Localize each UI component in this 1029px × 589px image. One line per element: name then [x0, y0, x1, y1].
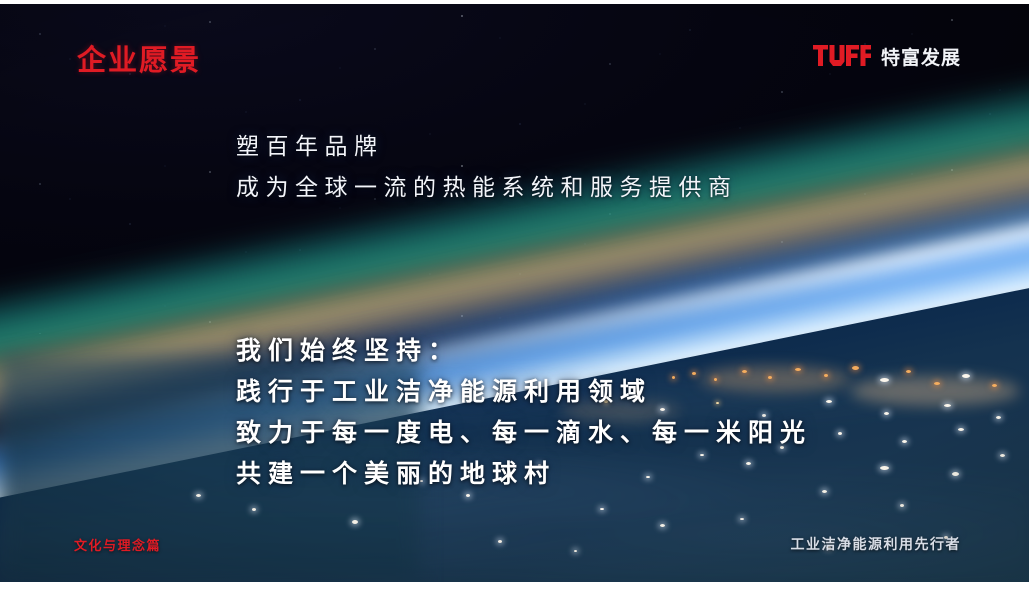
vision-statement: 塑百年品牌 成为全球一流的热能系统和服务提供商: [236, 126, 738, 208]
commitment-line: 致力于每一度电、每一滴水、每一米阳光: [236, 413, 812, 454]
footer-section-label: 文化与理念篇: [74, 535, 161, 554]
commitment-line: 我们始终坚持：: [236, 331, 812, 372]
commitment-statement: 我们始终坚持： 践行于工业洁净能源利用领域 致力于每一度电、每一滴水、每一米阳光…: [236, 331, 812, 495]
slide-content: 企业愿景 特富发展 塑百年: [0, 0, 1029, 589]
slide-root: 企业愿景 特富发展 塑百年: [0, 0, 1029, 589]
brand-lockup: 特富发展: [813, 45, 961, 71]
commitment-line: 践行于工业洁净能源利用领域: [236, 372, 812, 413]
footer-tagline: 工业洁净能源利用先行者: [791, 534, 962, 554]
page-title: 企业愿景: [77, 45, 201, 78]
vision-line: 塑百年品牌: [236, 126, 738, 167]
vision-line: 成为全球一流的热能系统和服务提供商: [236, 167, 738, 208]
brand-company-name: 特富发展: [881, 49, 961, 68]
commitment-line: 共建一个美丽的地球村: [236, 454, 812, 495]
tuff-logo-icon: [813, 45, 871, 71]
